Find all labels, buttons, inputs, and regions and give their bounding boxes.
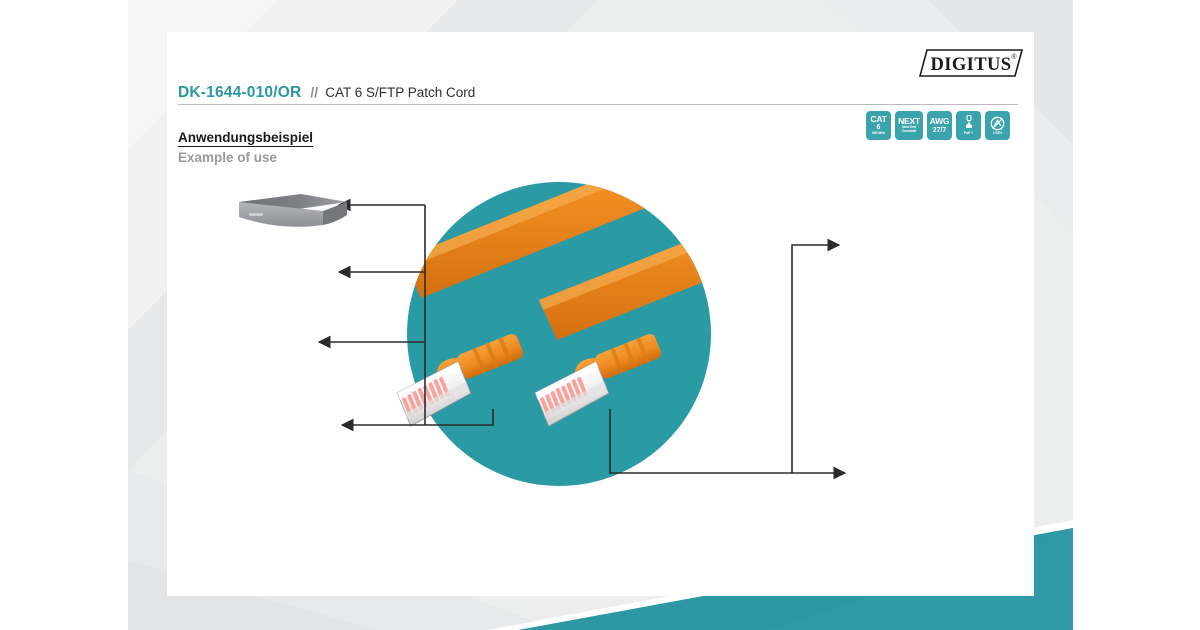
usage-diagram <box>167 32 1034 596</box>
device-router <box>239 194 347 227</box>
product-image <box>393 128 875 486</box>
